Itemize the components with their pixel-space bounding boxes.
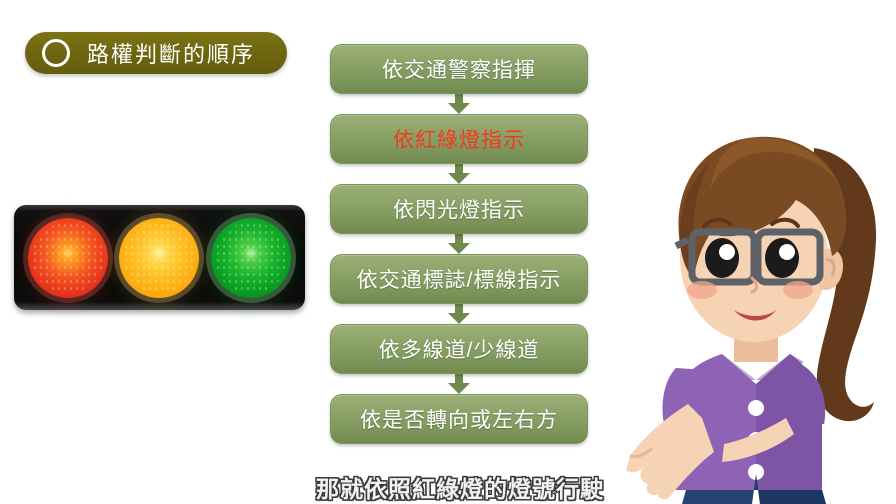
slide-title-pill: 路權判斷的順序 — [25, 32, 287, 74]
flow-arrow-down-icon — [330, 374, 588, 394]
circle-outline-icon — [42, 39, 70, 67]
eye-right-highlight — [779, 244, 795, 260]
flow-node-1[interactable]: 依交通警察指揮 — [330, 44, 588, 94]
flow-node-label: 依是否轉向或左右方 — [360, 404, 558, 434]
green-lamp-icon — [211, 218, 291, 298]
page-title: 路權判斷的順序 — [87, 37, 255, 69]
shirt-button — [748, 400, 764, 416]
flow-node-label: 依多線道/少線道 — [379, 334, 540, 364]
traffic-light-graphic — [14, 205, 305, 310]
flow-node-2[interactable]: 依紅綠燈指示 — [330, 114, 588, 164]
flow-arrow-down-icon — [330, 304, 588, 324]
flow-node-6[interactable]: 依是否轉向或左右方 — [330, 394, 588, 444]
eye-left-highlight — [719, 244, 735, 260]
flow-node-label: 依交通標誌/標線指示 — [357, 264, 562, 294]
cheek-right — [783, 281, 813, 299]
red-lamp-icon — [28, 218, 108, 298]
flow-arrow-down-icon — [330, 94, 588, 114]
flow-node-4[interactable]: 依交通標誌/標線指示 — [330, 254, 588, 304]
flow-node-label: 依閃光燈指示 — [393, 194, 525, 224]
flow-arrow-down-icon — [330, 234, 588, 254]
flow-node-5[interactable]: 依多線道/少線道 — [330, 324, 588, 374]
flow-node-label: 依交通警察指揮 — [382, 54, 536, 84]
flow-arrow-down-icon — [330, 164, 588, 184]
cheek-left — [687, 281, 717, 299]
flow-node-3[interactable]: 依閃光燈指示 — [330, 184, 588, 234]
amber-lamp-icon — [119, 218, 199, 298]
cartoon-girl-illustration — [626, 118, 896, 504]
priority-order-flowchart: 依交通警察指揮 依紅綠燈指示 依閃光燈指示 依交通標誌/標線指示 依多線道/少線… — [330, 44, 588, 444]
flow-node-label: 依紅綠燈指示 — [393, 124, 525, 154]
bottom-caption: 那就依照紅綠燈的燈號行駛 — [316, 470, 604, 504]
